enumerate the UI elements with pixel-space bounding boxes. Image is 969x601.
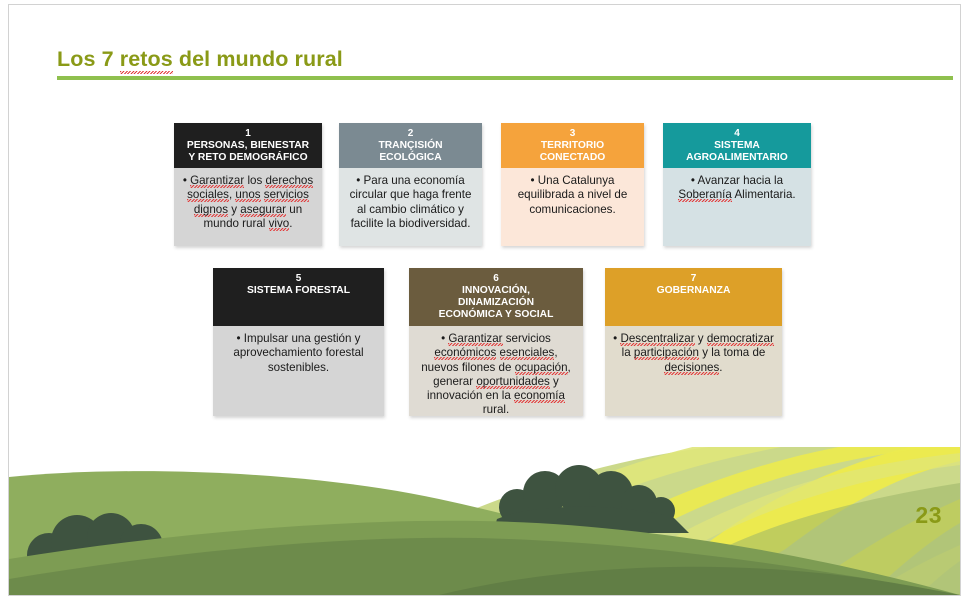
challenge-card-1: 1PERSONAS, BIENESTAR Y RETO DEMOGRÁFICO•… bbox=[174, 123, 322, 246]
challenge-card-title: PERSONAS, BIENESTAR Y RETO DEMOGRÁFICO bbox=[184, 140, 312, 164]
challenge-card-number: 1 bbox=[245, 127, 251, 140]
challenge-card-4: 4SISTEMA AGROALIMENTARIO• Avanzar hacia … bbox=[663, 123, 811, 246]
challenge-card-header-6: 6INNOVACIÓN, DINAMIZACIÓN ECONÓMICA Y SO… bbox=[409, 268, 583, 326]
challenge-card-title: GOBERNANZA bbox=[654, 285, 734, 297]
challenge-card-3: 3TERRITORIO CONECTADO• Una Catalunya equ… bbox=[501, 123, 644, 246]
challenge-card-number: 3 bbox=[570, 127, 576, 140]
page-number: 23 bbox=[915, 502, 942, 529]
challenge-card-header-3: 3TERRITORIO CONECTADO bbox=[501, 123, 644, 168]
challenge-card-title: TRANÇISIÓN ECOLÓGICA bbox=[375, 140, 445, 164]
challenge-card-number: 4 bbox=[734, 127, 740, 140]
page-title-part-before: Los 7 bbox=[57, 47, 120, 71]
page-title: Los 7 retos del mundo rural bbox=[57, 47, 343, 74]
challenge-card-2: 2TRANÇISIÓN ECOLÓGICA• Para una economía… bbox=[339, 123, 482, 246]
challenge-card-header-1: 1PERSONAS, BIENESTAR Y RETO DEMOGRÁFICO bbox=[174, 123, 322, 168]
challenge-card-header-7: 7GOBERNANZA bbox=[605, 268, 782, 326]
challenge-card-title: SISTEMA FORESTAL bbox=[244, 285, 353, 297]
challenge-card-title: SISTEMA AGROALIMENTARIO bbox=[683, 140, 791, 164]
challenge-card-body-5: • Impulsar una gestión y aprovechamiento… bbox=[213, 326, 384, 416]
challenge-card-header-5: 5SISTEMA FORESTAL bbox=[213, 268, 384, 326]
challenge-card-title: TERRITORIO CONECTADO bbox=[537, 140, 609, 164]
challenge-card-body-6: • Garantizar servicios económicos esenci… bbox=[409, 326, 583, 416]
challenge-card-body-7: • Descentralizar y democratizar la parti… bbox=[605, 326, 782, 416]
challenge-card-title: INNOVACIÓN, DINAMIZACIÓN ECONÓMICA Y SOC… bbox=[436, 285, 557, 321]
rural-landscape-illustration bbox=[9, 447, 960, 595]
challenge-card-number: 6 bbox=[493, 272, 499, 285]
challenge-card-7: 7GOBERNANZA• Descentralizar y democratiz… bbox=[605, 268, 782, 416]
challenge-card-body-1: • Garantizar los derechos sociales, unos… bbox=[174, 168, 322, 246]
challenge-card-header-2: 2TRANÇISIÓN ECOLÓGICA bbox=[339, 123, 482, 168]
slide-canvas: Los 7 retos del mundo rural 1PERSONAS, B… bbox=[8, 4, 961, 596]
challenge-card-body-4: • Avanzar hacia la Soberanía Alimentaria… bbox=[663, 168, 811, 246]
challenge-card-body-3: • Una Catalunya equilibrada a nivel de c… bbox=[501, 168, 644, 246]
challenge-card-header-4: 4SISTEMA AGROALIMENTARIO bbox=[663, 123, 811, 168]
challenge-card-number: 7 bbox=[691, 272, 697, 285]
challenge-card-number: 5 bbox=[296, 272, 302, 285]
challenge-card-number: 2 bbox=[408, 127, 414, 140]
challenge-card-body-2: • Para una economía circular que haga fr… bbox=[339, 168, 482, 246]
title-underline-rule bbox=[57, 76, 953, 80]
challenge-card-6: 6INNOVACIÓN, DINAMIZACIÓN ECONÓMICA Y SO… bbox=[409, 268, 583, 416]
landscape-svg bbox=[9, 447, 960, 595]
page-title-part-after: del mundo rural bbox=[173, 47, 343, 71]
page-title-misspelled-word: retos bbox=[120, 47, 173, 74]
challenge-card-5: 5SISTEMA FORESTAL• Impulsar una gestión … bbox=[213, 268, 384, 416]
page-title-block: Los 7 retos del mundo rural bbox=[57, 47, 905, 74]
